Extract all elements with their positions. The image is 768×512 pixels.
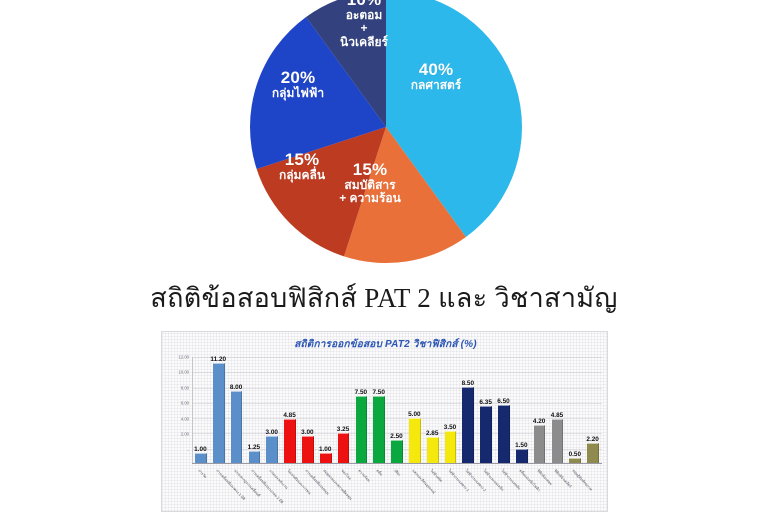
x-label-slot: ไฟฟ้ากระแสสลับ xyxy=(495,466,513,512)
x-label-slot: การวัด xyxy=(192,466,210,512)
x-axis-tick-label: คลื่น xyxy=(375,468,384,477)
bar-value-label: 2.20 xyxy=(586,436,598,443)
x-label-slot: การเคลื่อนที่แนวตรง 1 มิติ xyxy=(210,466,228,512)
y-axis-tick-label: 12.00 xyxy=(179,355,189,360)
bar[interactable]: 1.50 xyxy=(516,449,528,463)
x-label-slot: ไฟฟ้ากระแสตรง 1 xyxy=(442,466,460,512)
bar-value-label: 3.00 xyxy=(301,429,313,436)
bar[interactable]: 4.20 xyxy=(534,425,546,463)
bar-value-label: 11.20 xyxy=(210,356,226,363)
x-label-slot: ไฟฟ้ากระแสตรง 2 xyxy=(459,466,477,512)
pie-chart-svg xyxy=(250,0,522,272)
bar-value-label: 2.50 xyxy=(390,433,402,440)
bar-value-label: 0.50 xyxy=(569,451,581,458)
bar-slot: 2.50 xyxy=(388,357,406,463)
bar-value-label: 7.50 xyxy=(372,389,384,396)
x-label-slot: สมดุลกลและสภาพยืดหยุ่น xyxy=(317,466,335,512)
x-axis-tick-label: เสียง xyxy=(393,468,402,477)
bar-value-label: 8.50 xyxy=(462,380,474,387)
bar[interactable]: 7.50 xyxy=(356,396,368,463)
bar-slot: 2.85 xyxy=(424,357,442,463)
bar-slot: 4.85 xyxy=(281,357,299,463)
bar-slot: 7.50 xyxy=(370,357,388,463)
bar-slot: 11.20 xyxy=(210,357,228,463)
x-label-slot: ทฤษฎีสัมพัทธภาพ xyxy=(566,466,584,512)
bar-slot: 7.50 xyxy=(352,357,370,463)
bar[interactable]: 0.50 xyxy=(569,458,581,463)
x-label-slot: ฟิสิกส์อะตอม xyxy=(531,466,549,512)
y-axis-tick-label: 10.00 xyxy=(179,370,189,375)
bar[interactable]: 1.25 xyxy=(249,451,261,463)
bar[interactable]: 3.25 xyxy=(338,433,350,463)
bar-slot: 1.00 xyxy=(192,357,210,463)
x-label-slot: ฟิสิกส์นิวเคลียร์ xyxy=(549,466,567,512)
bar-value-label: 2.85 xyxy=(426,430,438,437)
bar-chart-card: สถิติการออกข้อสอบ PAT2 วิชาฟิสิกส์ (%) 1… xyxy=(161,331,608,512)
x-axis-tick-label: การวัด xyxy=(197,468,209,480)
x-label-slot: การเคลื่อนที่แบบหมุน xyxy=(299,466,317,512)
y-axis-tick-label: - xyxy=(188,447,189,452)
bar-value-label: 3.25 xyxy=(337,426,349,433)
bar[interactable]: 6.50 xyxy=(498,405,510,463)
bar-value-label: 5.00 xyxy=(408,411,420,418)
pie-chart: 40% กลศาสตร์ 15% สมบัติสาร + ความร้อน 15… xyxy=(250,0,522,272)
x-label-slot: คลื่น xyxy=(370,466,388,512)
bar[interactable]: 6.35 xyxy=(480,406,492,463)
x-label-slot: แสงและทัศนอุปกรณ์ xyxy=(406,466,424,512)
bar-value-label: 1.50 xyxy=(515,442,527,449)
bar-value-label: 1.00 xyxy=(319,446,331,453)
bar[interactable]: 2.20 xyxy=(587,443,599,463)
bar-chart-title: สถิติการออกข้อสอบ PAT2 วิชาฟิสิกส์ (%) xyxy=(162,337,608,352)
bar[interactable]: 3.00 xyxy=(302,436,314,464)
bar[interactable]: 3.50 xyxy=(445,431,457,463)
bar-value-label: 3.50 xyxy=(444,424,456,431)
bar[interactable]: 5.00 xyxy=(409,418,421,463)
bar-slot: 3.50 xyxy=(442,357,460,463)
pie-chart-section: 40% กลศาสตร์ 15% สมบัติสาร + ความร้อน 15… xyxy=(0,0,768,272)
bar-slot: 4.85 xyxy=(549,357,567,463)
x-label-slot: เสียง xyxy=(388,466,406,512)
x-label-slot: โมเมนตัมและการชน xyxy=(281,466,299,512)
bar[interactable]: 8.50 xyxy=(462,387,474,463)
bar[interactable]: 11.20 xyxy=(213,363,225,463)
bar-value-label: 4.20 xyxy=(533,418,545,425)
y-axis-tick-label: 4.00 xyxy=(181,416,189,421)
bar-slot: 8.00 xyxy=(228,357,246,463)
bar-slot: 3.25 xyxy=(335,357,353,463)
x-label-slot: ของไหล xyxy=(335,466,353,512)
bar[interactable]: 1.00 xyxy=(320,453,332,463)
x-axis xyxy=(192,463,602,464)
bar-value-label: 1.00 xyxy=(194,446,206,453)
bar-slot: 2.20 xyxy=(584,357,602,463)
x-label-slot: ไฟฟ้าสถิต xyxy=(424,466,442,512)
x-label-slot: แรงและกฎการเคลื่อนที่ xyxy=(228,466,246,512)
bar-slot: 4.20 xyxy=(531,357,549,463)
bar-slot: 3.00 xyxy=(299,357,317,463)
x-label-slot: ไฟฟ้าและแม่เหล็ก xyxy=(477,466,495,512)
bar-slot: 5.00 xyxy=(406,357,424,463)
page-title: สถิติข้อสอบฟิสิกส์ PAT 2 และ วิชาสามัญ xyxy=(0,276,768,319)
bar-slot: 6.50 xyxy=(495,357,513,463)
bar-value-label: 3.00 xyxy=(265,429,277,436)
bar-slot: 8.50 xyxy=(459,357,477,463)
bar[interactable]: 7.50 xyxy=(373,396,385,463)
bar[interactable]: 3.00 xyxy=(266,436,278,464)
bar[interactable]: 8.00 xyxy=(231,391,243,463)
bar-series: 1.0011.208.001.253.004.853.001.003.257.5… xyxy=(192,357,602,463)
bar-slot: 0.50 xyxy=(566,357,584,463)
bar-value-label: 4.85 xyxy=(551,412,563,419)
bar-value-label: 1.25 xyxy=(248,444,260,451)
x-label-slot: งานและพลังงาน xyxy=(263,466,281,512)
bar[interactable]: 1.00 xyxy=(195,453,207,463)
bar-slot: 1.00 xyxy=(317,357,335,463)
bar-value-label: 6.35 xyxy=(479,399,491,406)
bar-value-label: 8.00 xyxy=(230,384,242,391)
x-label-slot: ความร้อน xyxy=(352,466,370,512)
x-label-slot: การเคลื่อนที่แบบวงกลม 2 มิติ xyxy=(245,466,263,512)
bar[interactable]: 4.85 xyxy=(552,419,564,463)
bar-slot: 1.50 xyxy=(513,357,531,463)
y-axis-tick-label: 6.00 xyxy=(181,401,189,406)
pie-slices xyxy=(250,0,522,263)
y-axis-tick-label: 2.00 xyxy=(181,432,189,437)
bar-value-label: 6.50 xyxy=(497,398,509,405)
bar[interactable]: 4.85 xyxy=(284,419,296,463)
bar[interactable]: 2.85 xyxy=(427,437,439,463)
x-label-slot xyxy=(584,466,602,512)
bar[interactable]: 2.50 xyxy=(391,440,403,463)
x-label-slot: คลื่นแม่เหล็กไฟฟ้า xyxy=(513,466,531,512)
x-axis-labels: การวัดการเคลื่อนที่แนวตรง 1 มิติแรงและกฎ… xyxy=(192,466,602,512)
x-axis-tick-label: ของไหล xyxy=(339,468,352,481)
bar-slot: 3.00 xyxy=(263,357,281,463)
y-axis-tick-label: 8.00 xyxy=(181,385,189,390)
bar-slot: 1.25 xyxy=(245,357,263,463)
bar-value-label: 7.50 xyxy=(355,389,367,396)
bar-slot: 6.35 xyxy=(477,357,495,463)
bar-value-label: 4.85 xyxy=(283,412,295,419)
bar-chart-plot-area: 12.0010.008.006.004.002.00- 1.0011.208.0… xyxy=(192,357,602,464)
